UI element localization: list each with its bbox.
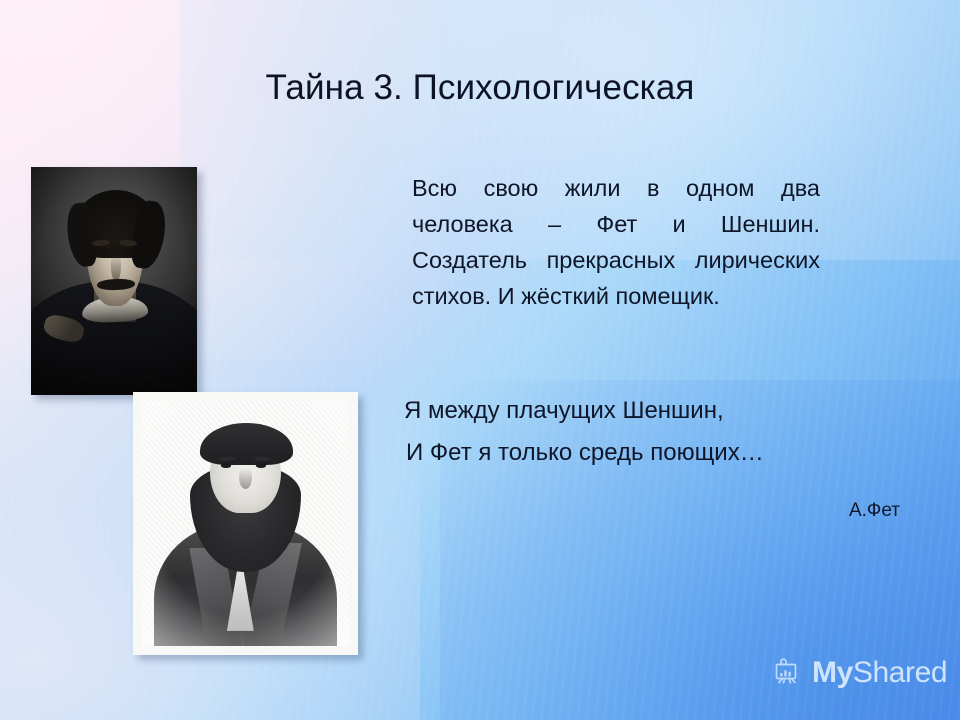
watermark-label-shared: Shared: [853, 656, 947, 689]
quote-attribution: А.Фет: [0, 500, 900, 522]
quote-line-1: Я между плачущих Шеншин,: [404, 390, 874, 432]
watermark-label-my: My: [812, 656, 853, 689]
presentation-chart-icon: [770, 656, 804, 690]
paragraph-line-2: человека – Фет и Шеншин.: [412, 211, 820, 237]
watermark-label: MyShared: [812, 658, 947, 688]
presentation-slide: Тайна 3. Психологическая: [0, 0, 960, 720]
portrait-old-vignette: [142, 401, 349, 646]
paragraph-line-1: Всю свою жили в одном два: [412, 175, 820, 201]
paragraph-line-3: Создатель прекрасных лирических: [412, 247, 820, 273]
portrait-young-fet: [31, 167, 197, 395]
portrait-old-engraving: [142, 401, 349, 646]
myshared-watermark: MyShared: [770, 656, 947, 690]
portrait-young-vignette: [31, 167, 197, 395]
verse-quote: Я между плачущих Шеншин, И Фет я только …: [404, 390, 874, 474]
body-paragraph: Всю свою жили в одном два человека – Фет…: [412, 170, 820, 314]
portrait-old-fet: [133, 392, 358, 655]
slide-title: Тайна 3. Психологическая: [0, 66, 960, 110]
paragraph-line-4: стихов. И жёсткий помещик.: [412, 283, 720, 309]
quote-line-2: И Фет я только средь поющих…: [404, 432, 874, 474]
